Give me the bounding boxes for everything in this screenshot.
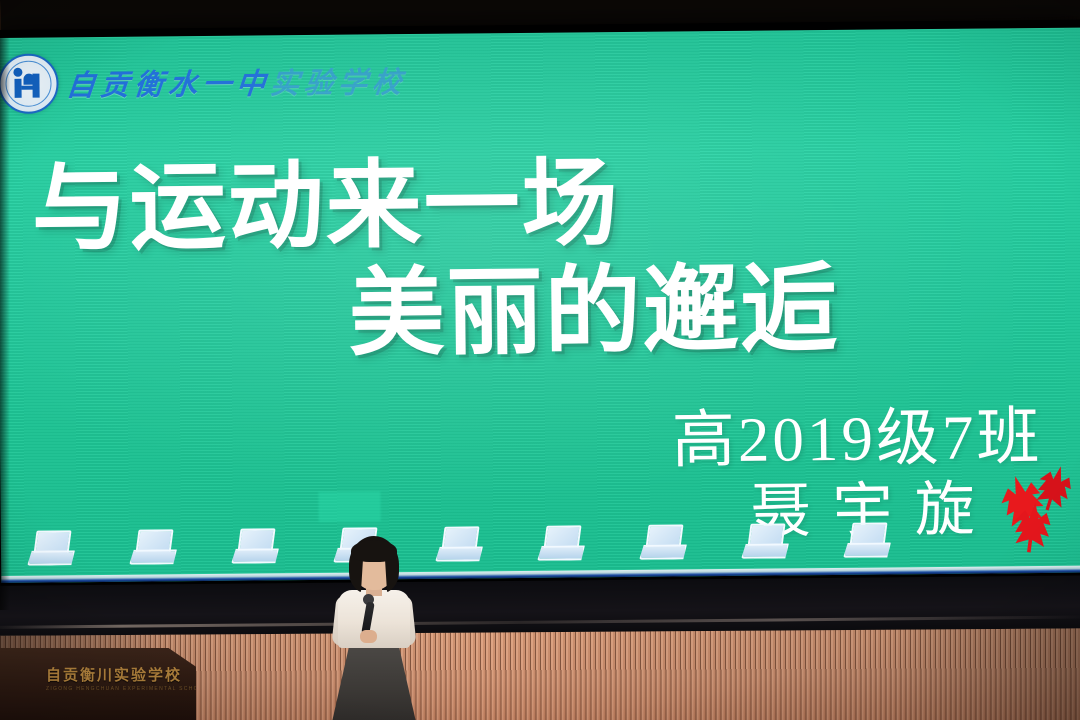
presenter-bangs (351, 540, 397, 562)
laptop-icon-strip (1, 509, 1080, 567)
student-presenter (318, 534, 428, 720)
presentation-screen: 自贡衡水一中实验学校 与运动来一场 美丽的邂逅 高2019级7班 聂宇旋 (0, 28, 1080, 583)
school-name-text: 自贡衡水一中实验学校 (65, 59, 409, 104)
school-name-main: 自贡衡水一中 (65, 68, 272, 102)
stage-edge-highlight (0, 615, 1080, 629)
podium-school-name: 自贡衡川实验学校 (46, 664, 182, 685)
laptop-icon (129, 529, 175, 565)
slide-header: 自贡衡水一中实验学校 (0, 50, 407, 114)
school-name-faded: 实验学校 (269, 67, 408, 100)
laptop-icon (231, 528, 277, 564)
slide-title-line-1: 与运动来一场 (31, 156, 620, 258)
slide-title-line-2: 美丽的邂逅 (348, 262, 839, 363)
laptop-icon (435, 526, 481, 562)
laptop-icon (843, 522, 889, 558)
led-screen-frame: 自贡衡水一中实验学校 与运动来一场 美丽的邂逅 高2019级7班 聂宇旋 (0, 20, 1080, 590)
presenter-skirt (332, 640, 416, 720)
maple-leaf-icon (976, 459, 1080, 556)
slide-content: 自贡衡水一中实验学校 与运动来一场 美丽的邂逅 高2019级7班 聂宇旋 (0, 28, 1080, 583)
laptop-icon (27, 530, 73, 566)
lectern-podium: 自贡衡川实验学校 ZIGONG HENGCHUAN EXPERIMENTAL S… (0, 648, 196, 720)
presenter-hand (360, 630, 377, 643)
podium-school-name-english: ZIGONG HENGCHUAN EXPERIMENTAL SCHOOL (46, 686, 208, 692)
photo-scene: 自贡衡水一中实验学校 与运动来一场 美丽的邂逅 高2019级7班 聂宇旋 (0, 0, 1080, 720)
crest-figure-icon (11, 72, 45, 98)
laptop-icon (537, 525, 583, 561)
laptop-icon (639, 524, 685, 560)
laptop-icon (741, 523, 787, 559)
school-crest-logo (0, 53, 59, 114)
